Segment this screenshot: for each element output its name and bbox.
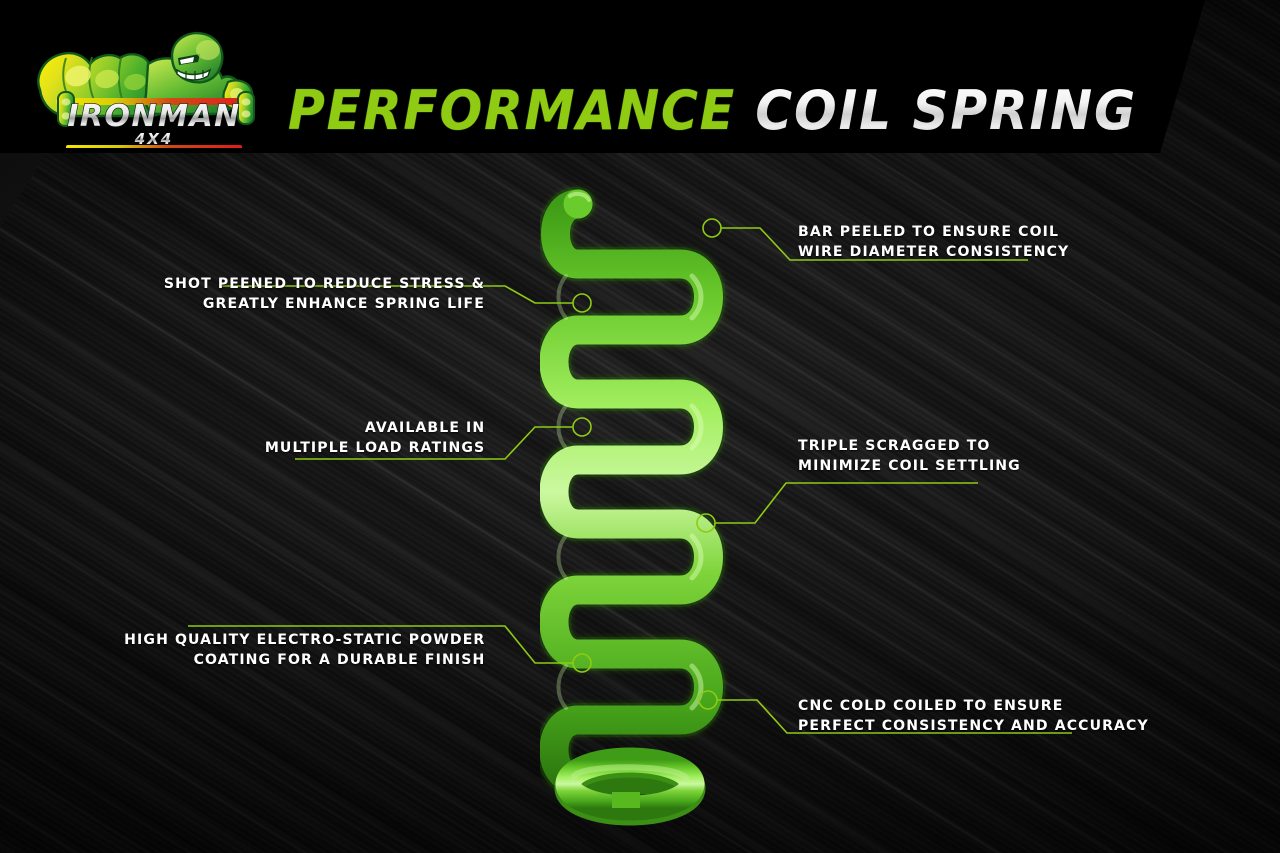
infographic-canvas: BAR PEELED TO ENSURE COIL WIRE DIAMETER … xyxy=(0,0,1280,853)
callout-powder-coating: HIGH QUALITY ELECTRO-STATIC POWDER COATI… xyxy=(113,630,485,670)
callout-shot-peened-line2: GREATLY ENHANCE SPRING LIFE xyxy=(164,294,485,314)
logo-wordmark-ironman: IRONMAN xyxy=(67,99,241,134)
callout-shot-peened-line1: SHOT PEENED TO REDUCE STRESS & xyxy=(164,274,485,294)
callout-cnc-cold-coiled-line2: PERFECT CONSISTENCY AND ACCURACY xyxy=(798,716,1149,736)
callout-triple-scragged-line1: TRIPLE SCRAGGED TO xyxy=(798,436,1021,456)
callout-load-ratings-line2: MULTIPLE LOAD RATINGS xyxy=(265,438,485,458)
callout-triple-scragged-line2: MINIMIZE COIL SETTLING xyxy=(798,456,1021,476)
callout-load-ratings: AVAILABLE IN MULTIPLE LOAD RATINGS xyxy=(258,418,485,458)
ironman-4x4-logo[interactable]: IRONMAN 4X4 xyxy=(22,24,272,148)
page-title-coil-spring: COIL SPRING xyxy=(755,79,1137,142)
callout-bar-peeled-line2: WIRE DIAMETER CONSISTENCY xyxy=(798,242,1069,262)
callout-cnc-cold-coiled-line1: CNC COLD COILED TO ENSURE xyxy=(798,696,1149,716)
callout-powder-coating-line1: HIGH QUALITY ELECTRO-STATIC POWDER xyxy=(124,630,485,650)
callout-shot-peened: SHOT PEENED TO REDUCE STRESS & GREATLY E… xyxy=(154,274,485,314)
page-title: PERFORMANCE COIL SPRING xyxy=(288,84,1137,138)
callout-triple-scragged: TRIPLE SCRAGGED TO MINIMIZE COIL SETTLIN… xyxy=(798,436,1028,476)
callout-bar-peeled: BAR PEELED TO ENSURE COIL WIRE DIAMETER … xyxy=(798,222,1078,262)
callout-bar-peeled-line1: BAR PEELED TO ENSURE COIL xyxy=(798,222,1069,242)
callout-cnc-cold-coiled: CNC COLD COILED TO ENSURE PERFECT CONSIS… xyxy=(798,696,1160,736)
header-content: IRONMAN 4X4 PERFORMANCE COIL SPRING xyxy=(0,0,1205,153)
coil-spring-image xyxy=(540,180,760,830)
callout-load-ratings-line1: AVAILABLE IN xyxy=(265,418,485,438)
page-title-performance: PERFORMANCE xyxy=(288,79,736,142)
callout-powder-coating-line2: COATING FOR A DURABLE FINISH xyxy=(124,650,485,670)
